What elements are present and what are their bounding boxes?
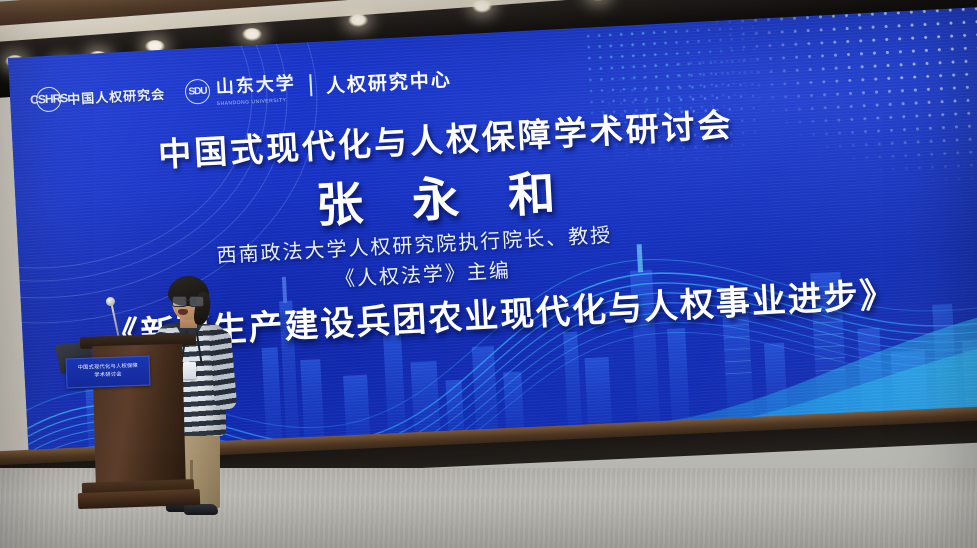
- hr-research-center-name: 人权研究中心: [325, 64, 452, 98]
- sdu-emblem-icon: SDU: [184, 78, 210, 104]
- podium: 中国式现代化与人权保障 学术研讨会: [88, 335, 188, 510]
- shoe-right: [184, 504, 218, 515]
- cshrs-emblem-icon: CSHRS: [36, 86, 62, 112]
- microphone-icon: [106, 297, 115, 306]
- logo-cshrs: CSHRS 中国人权研究会: [36, 80, 166, 112]
- lens-left: [172, 296, 187, 307]
- lens-right: [189, 296, 204, 307]
- spotlight-icon: [472, 0, 492, 13]
- podium-name-plate: 中国式现代化与人权保障 学术研讨会: [66, 356, 151, 389]
- mouth: [178, 309, 188, 315]
- eyeglasses-icon: [172, 296, 204, 305]
- podium-sign-line-2: 学术研讨会: [94, 372, 122, 381]
- spotlight-icon: [242, 28, 262, 41]
- spotlight-icon: [348, 14, 368, 27]
- screenshot-root: CSHRS 中国人权研究会 SDU 山东大学 SHANDONG UNIVERSI…: [0, 0, 977, 548]
- podium-base-lower: [78, 489, 200, 509]
- logo-divider: [309, 74, 312, 96]
- sdu-name: 山东大学: [215, 69, 296, 99]
- cshrs-name: 中国人权研究会: [67, 83, 166, 107]
